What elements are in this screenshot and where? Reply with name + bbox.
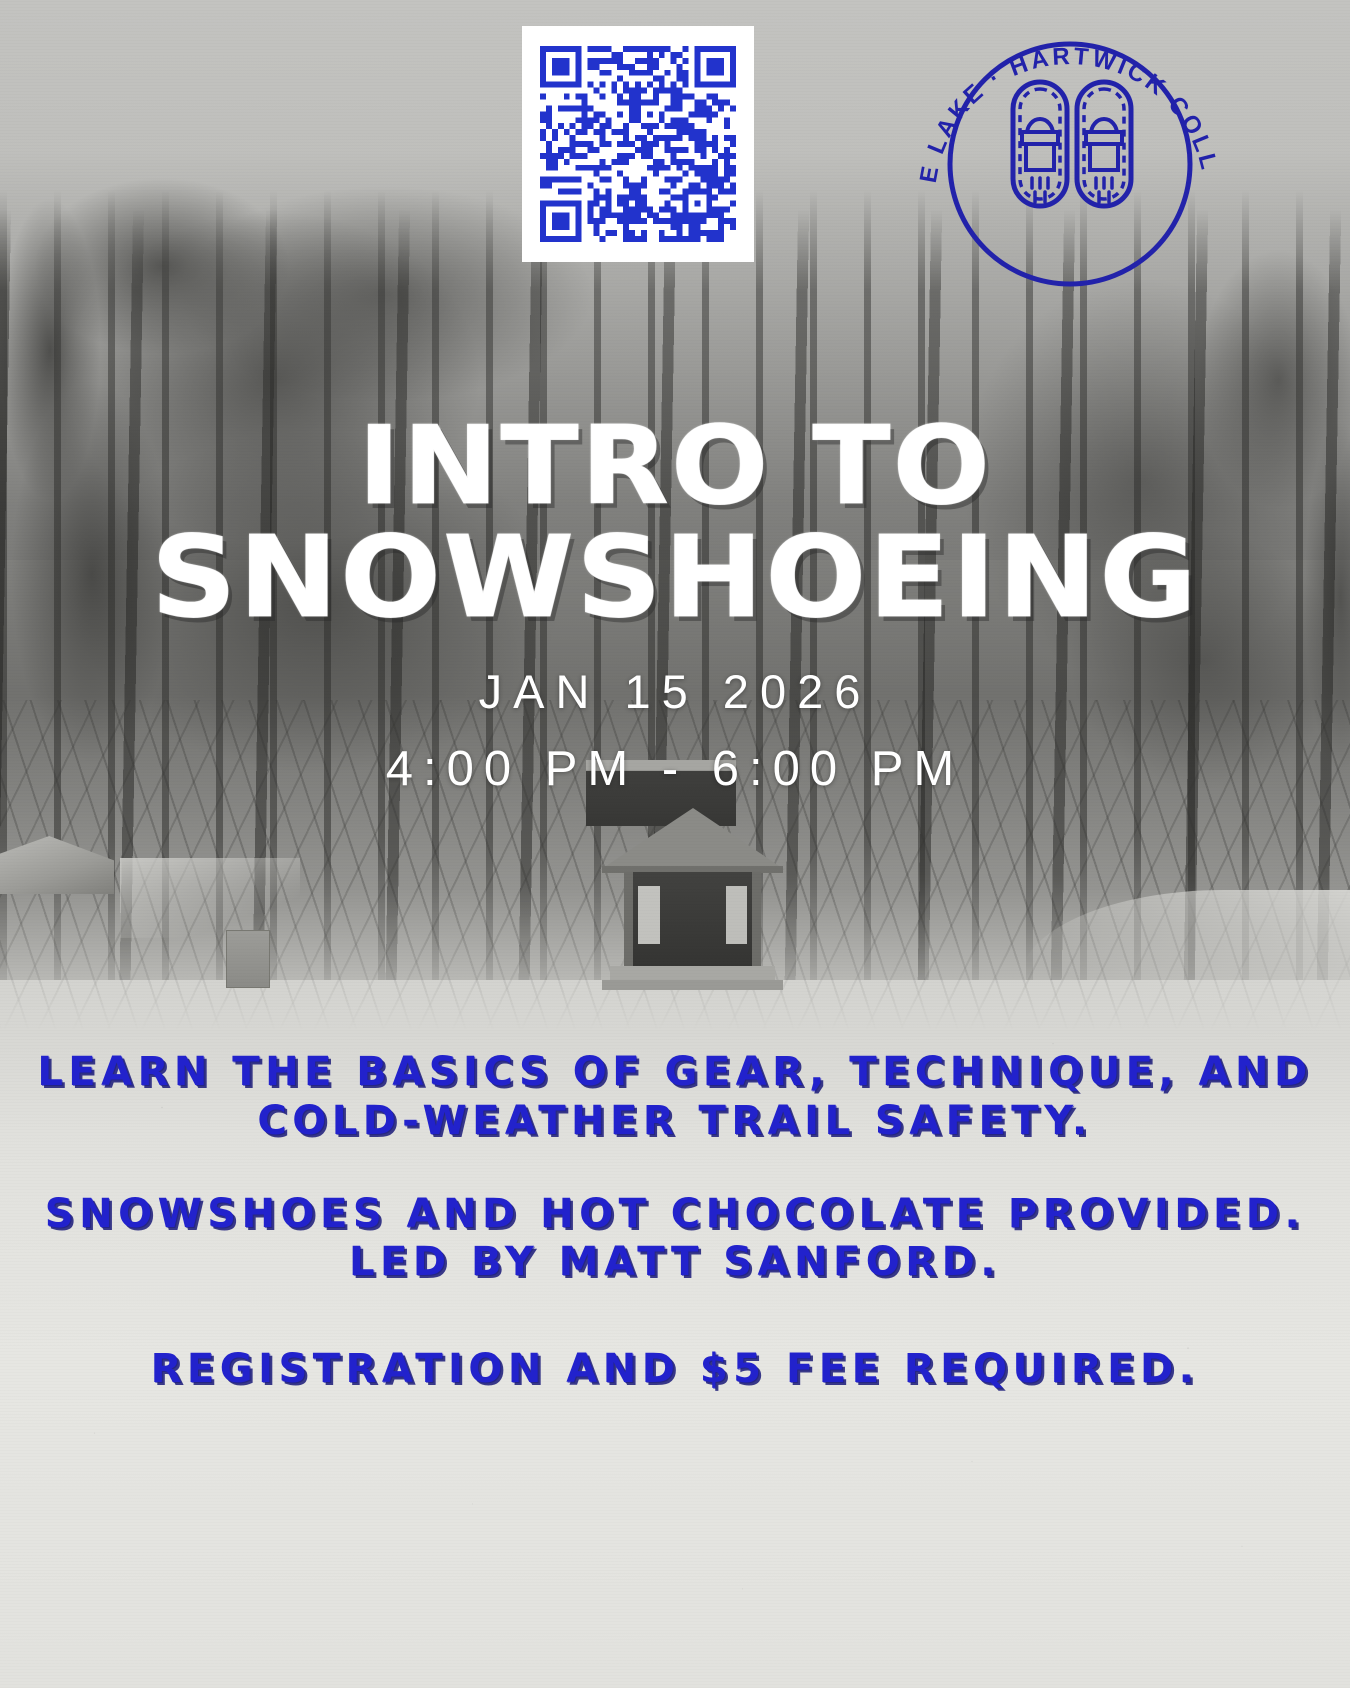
- qr-code-panel[interactable]: [522, 26, 754, 262]
- body-line-2: COLD-WEATHER TRAIL SAFETY.: [0, 1097, 1350, 1146]
- body-paragraph-2: SNOWSHOES AND HOT CHOCOLATE PROVIDED. LE…: [0, 1190, 1350, 1288]
- poster-title-line-2: SNOWSHOEING: [0, 524, 1350, 634]
- body-line-3: SNOWSHOES AND HOT CHOCOLATE PROVIDED.: [0, 1190, 1350, 1239]
- poster-title-line-1: INTRO TO: [0, 414, 1350, 520]
- body-line-4: LED BY MATT SANFORD.: [0, 1238, 1350, 1287]
- paragraph-spacer-1: [0, 1146, 1350, 1190]
- paragraph-spacer-2: [0, 1287, 1350, 1345]
- body-paragraph-3: REGISTRATION AND $5 FEE REQUIRED.: [0, 1345, 1350, 1394]
- poster-root: PINE LAKE · HARTWICK COLLEGE: [0, 0, 1350, 1688]
- body-line-5: REGISTRATION AND $5 FEE REQUIRED.: [0, 1345, 1350, 1394]
- title-block: INTRO TO SNOWSHOEING JAN 15 2026 4:00 PM…: [0, 414, 1350, 797]
- body-text-area: LEARN THE BASICS OF GEAR, TECHNIQUE, AND…: [0, 1048, 1350, 1394]
- logo-svg: PINE LAKE · HARTWICK COLLEGE: [905, 4, 1235, 324]
- pine-lake-hartwick-logo: PINE LAKE · HARTWICK COLLEGE: [905, 4, 1235, 324]
- event-date: JAN 15 2026: [0, 664, 1350, 719]
- body-paragraph-1: LEARN THE BASICS OF GEAR, TECHNIQUE, AND…: [0, 1048, 1350, 1146]
- snowshoes-icon: [1013, 82, 1131, 206]
- registration-qr-code[interactable]: [540, 46, 736, 242]
- event-time: 4:00 PM - 6:00 PM: [0, 741, 1350, 797]
- body-line-1: LEARN THE BASICS OF GEAR, TECHNIQUE, AND: [0, 1048, 1350, 1097]
